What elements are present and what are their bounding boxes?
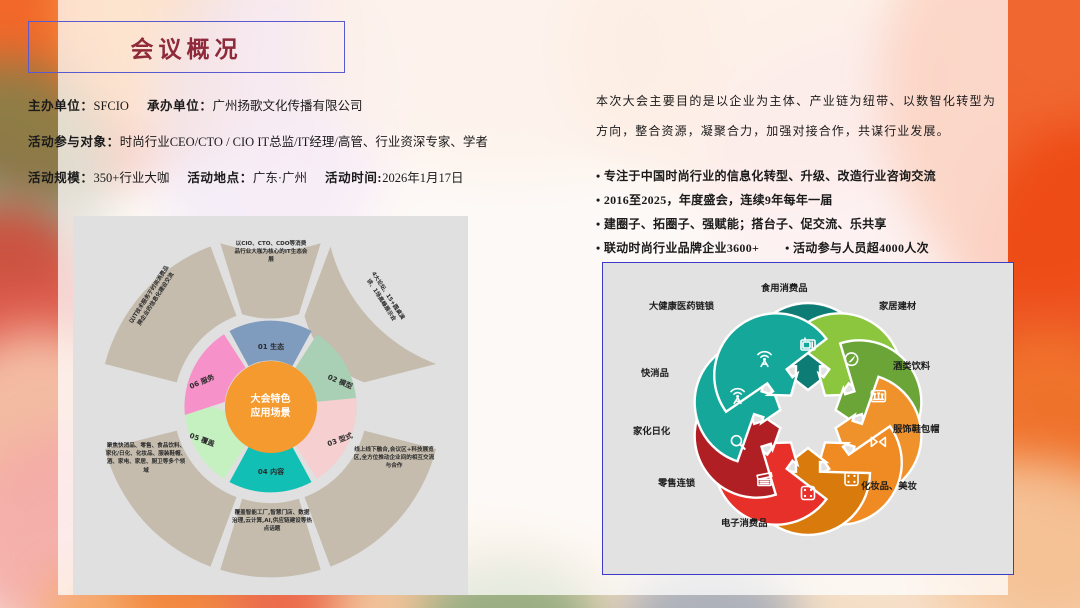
conference-features-diagram: 以CIO、CTO、CDO等消费品行业大咖为核心的IT生态会展 4大论坛、15+圆… xyxy=(73,216,468,595)
info-line-organizers: 主办单位：SFCIO承办单位：广州扬歌文化传播有限公司 xyxy=(28,95,362,114)
date-value: 2026年1月17日 xyxy=(382,171,463,185)
inner-label-04: 04 内容 xyxy=(242,467,300,477)
brand-count-text: 联动时尚行业品牌企业3600+ xyxy=(604,241,759,255)
petal-label-health: 大健康医药链锁 xyxy=(649,298,714,312)
scale-label: 活动规模： xyxy=(28,171,94,185)
petals-graphic xyxy=(684,295,932,543)
audience-label: 活动参与对象： xyxy=(28,135,120,149)
venue-label: 活动地点： xyxy=(187,171,253,185)
info-line-logistics: 活动规模：350+行业大咖活动地点：广东·广州活动时间:2026年1月17日 xyxy=(28,167,463,186)
wheel-graphic: 以CIO、CTO、CDO等消费品行业大咖为核心的IT生态会展 4大论坛、15+圆… xyxy=(83,224,458,589)
industry-sectors-diagram: 食用消费品 家居建材 酒类饮料 服饰鞋包帽 化妆品、美妆 电子消费品 零售连锁 … xyxy=(602,262,1014,575)
page-title: 会议概况 xyxy=(131,30,243,64)
summary-paragraph: 本次大会主要目的是以企业为主体、产业链为纽带、以数智化转型为方向，整合资源，凝聚… xyxy=(596,86,996,146)
host-label: 主办单位： xyxy=(28,99,94,113)
petal-label-food: 食用消费品 xyxy=(761,280,808,294)
inner-label-01: 01 生态 xyxy=(242,342,300,352)
summary-block: 本次大会主要目的是以企业为主体、产业链为纽带、以数智化转型为方向，整合资源，凝聚… xyxy=(596,86,996,260)
petals-svg xyxy=(684,295,932,543)
hub-line-2: 应用场景 xyxy=(251,407,291,421)
petal-label-fmcg: 快消品 xyxy=(641,365,669,379)
wheel-hub: 大会特色 应用场景 xyxy=(225,361,317,453)
audience-value: 时尚行业CEO/CTO / CIO IT总监/IT经理/高管、行业资深专家、学者 xyxy=(120,135,488,149)
inner-id-04: 04 xyxy=(258,468,268,476)
list-item: 建圈子、拓圈子、强赋能；搭台子、促交流、乐共享 xyxy=(596,212,996,236)
summary-bullet-list: 专注于中国时尚行业的信息化转型、升级、改造行业咨询交流 2016至2025，年度… xyxy=(596,164,996,260)
coorganizer-value: 广州扬歌文化传播有限公司 xyxy=(212,99,362,113)
petal-label-household: 家化日化 xyxy=(633,423,670,437)
host-value: SFCIO xyxy=(94,99,129,113)
petal-label-electronics: 电子消费品 xyxy=(721,515,768,529)
petal-label-liquor: 酒类饮料 xyxy=(893,358,930,372)
inner-id-01: 01 xyxy=(258,343,268,351)
attendee-count-text: 活动参与人员超4000人次 xyxy=(785,241,929,255)
coorganizer-label: 承办单位： xyxy=(147,99,213,113)
inner-id-02: 02 xyxy=(326,373,338,384)
outer-label-01: 以CIO、CTO、CDO等消费品行业大咖为核心的IT生态会展 xyxy=(233,240,309,265)
venue-value: 广东·广州 xyxy=(253,171,307,185)
petal-label-cosmetics: 化妆品、美妆 xyxy=(861,478,917,492)
outer-label-05: 聚焦快消品、零售、食品饮料、家化/日化、化妆品、服装鞋帽、酒、家电、家居、厨卫等… xyxy=(105,442,187,475)
inner-id-03: 03 xyxy=(326,437,338,448)
scale-value: 350+行业大咖 xyxy=(94,171,170,185)
petal-label-retail: 零售连锁 xyxy=(658,475,695,489)
inner-text-01: 生态 xyxy=(270,343,284,351)
page-title-box: 会议概况 xyxy=(28,21,345,73)
outer-label-03: 线上线下融合,会议区+科技展览区,全方位推动企业间的相互交流与合作 xyxy=(353,446,435,471)
list-item: 2016至2025，年度盛会，连续9年每年一届 xyxy=(596,188,996,212)
inner-text-04: 内容 xyxy=(270,468,284,476)
date-label: 活动时间: xyxy=(325,171,382,185)
inner-id-05: 05 xyxy=(188,432,200,443)
petal-label-apparel: 服饰鞋包帽 xyxy=(893,421,940,435)
list-item: 联动时尚行业品牌企业3600+活动参与人员超4000人次 xyxy=(596,236,996,260)
hub-line-1: 大会特色 xyxy=(251,393,291,407)
outer-label-04: 覆盖智能工厂,智慧门店、数据治理,云计算,AI,供应链建设等热点话题 xyxy=(232,509,312,534)
petal-label-home: 家居建材 xyxy=(879,298,916,312)
info-line-audience: 活动参与对象：时尚行业CEO/CTO / CIO IT总监/IT经理/高管、行业… xyxy=(28,131,488,150)
list-item: 专注于中国时尚行业的信息化转型、升级、改造行业咨询交流 xyxy=(596,164,996,188)
